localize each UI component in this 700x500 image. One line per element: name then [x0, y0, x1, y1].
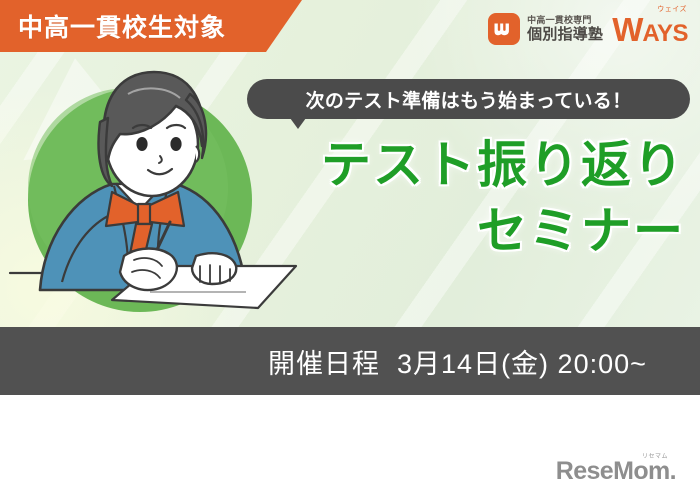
- ways-logo[interactable]: 中高一貫校専門 個別指導塾 ウェイズ W AYS: [488, 9, 688, 49]
- tagline-speech-bubble-text: 次のテスト準備はもう始まっている！: [306, 86, 632, 113]
- footer: リセマム ReseMom.: [0, 395, 700, 500]
- event-date-label: 開催日程: [268, 349, 380, 379]
- event-date-text: 開催日程 3月14日(金) 20:00~: [268, 342, 647, 381]
- ways-wordmark-rest: AYS: [642, 22, 688, 46]
- ways-tagline-small: 中高一貫校専門: [527, 16, 603, 25]
- resemom-logo[interactable]: リセマム ReseMom.: [556, 459, 676, 484]
- ways-tagline: 中高一貫校専門 個別指導塾: [527, 16, 603, 42]
- event-date-value: 3月14日(金) 20:00~: [397, 349, 647, 379]
- event-date-bar: 開催日程 3月14日(金) 20:00~: [0, 327, 700, 395]
- ways-w-mark-icon: [488, 13, 520, 45]
- seminar-title-line-2: セミナー: [250, 198, 685, 264]
- target-audience-label: 中高一貫校生対象: [18, 8, 226, 44]
- ways-wordmark: ウェイズ W AYS: [612, 13, 688, 46]
- ways-wordmark-initial: W: [612, 13, 642, 46]
- seminar-title: テスト振り返り セミナー: [250, 132, 685, 264]
- ways-tagline-main: 個別指導塾: [527, 27, 603, 42]
- speech-bubble-tail: [290, 118, 306, 129]
- seminar-poster: 中高一貫校生対象 中高一貫校専門 個別指導塾 ウェイズ W AYS: [0, 0, 700, 500]
- resemom-logo-ruby: リセマム: [642, 451, 668, 460]
- ways-wordmark-ruby: ウェイズ: [657, 4, 687, 14]
- seminar-title-line-1: テスト振り返り: [250, 132, 685, 198]
- tagline-speech-bubble: 次のテスト準備はもう始まっている！: [247, 79, 690, 119]
- target-audience-ribbon: 中高一貫校生対象: [0, 0, 302, 52]
- resemom-logo-text: ReseMom.: [556, 459, 676, 484]
